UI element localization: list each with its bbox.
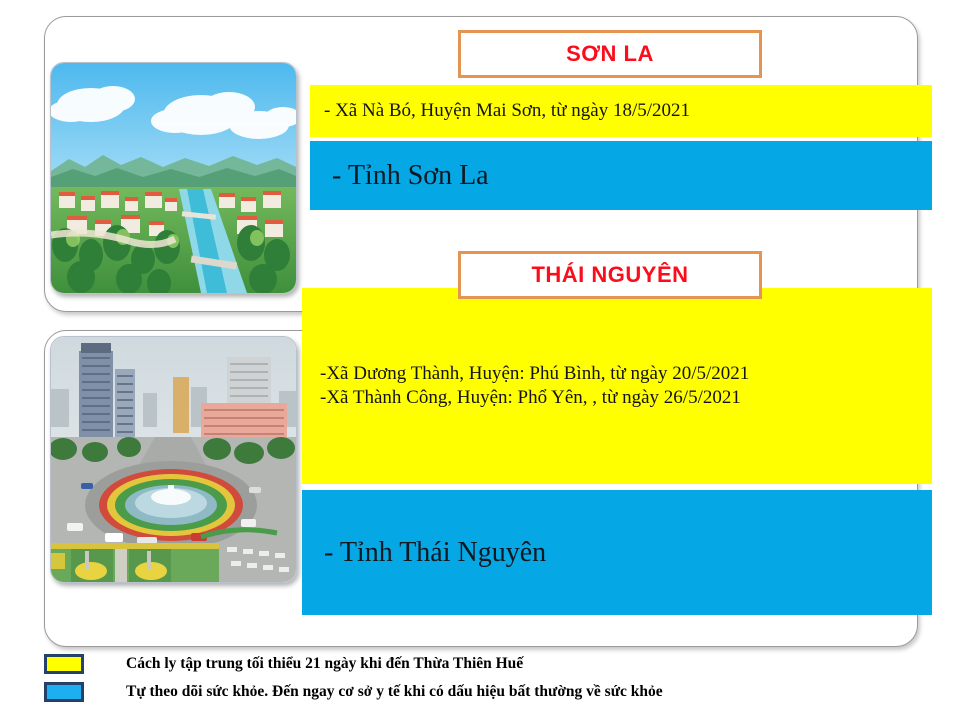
legend-swatch-blue	[44, 682, 84, 702]
legend-item-blue: Tự theo dõi sức khỏe. Đến ngay cơ sở y t…	[44, 682, 663, 702]
thai-nguyen-roundabout-illustration	[51, 337, 296, 582]
province-title-thai-nguyen: THÁI NGUYÊN	[458, 251, 762, 299]
quarantine-location-line: -Xã Thành Công, Huyện: Phổ Yên, , từ ngà…	[312, 386, 932, 410]
info-bar-blue-thai-nguyen: - Tỉnh Thái Nguyên	[302, 490, 932, 615]
info-bar-blue-son-la: - Tỉnh Sơn La	[310, 141, 932, 210]
info-bar-yellow-son-la: - Xã Nà Bó, Huyện Mai Sơn, từ ngày 18/5/…	[310, 85, 932, 137]
legend-label-blue: Tự theo dõi sức khỏe. Đến ngay cơ sở y t…	[126, 683, 663, 701]
quarantine-location-line: - Xã Nà Bó, Huyện Mai Sơn, từ ngày 18/5/…	[324, 99, 932, 123]
legend-swatch-yellow	[44, 654, 84, 674]
legend-item-yellow: Cách ly tập trung tối thiểu 21 ngày khi …	[44, 654, 523, 674]
legend-label-yellow: Cách ly tập trung tối thiểu 21 ngày khi …	[126, 655, 523, 673]
info-bar-yellow-thai-nguyen: -Xã Dương Thành, Huyện: Phú Bình, từ ngà…	[302, 288, 932, 484]
province-title-son-la: SƠN LA	[458, 30, 762, 78]
province-name-line: - Tỉnh Sơn La	[324, 160, 932, 192]
province-name-line: - Tỉnh Thái Nguyên	[312, 537, 932, 569]
quarantine-location-line: -Xã Dương Thành, Huyện: Phú Bình, từ ngà…	[312, 362, 932, 386]
legend: Cách ly tập trung tối thiểu 21 ngày khi …	[44, 652, 924, 708]
photo-son-la-city	[50, 62, 297, 294]
photo-thai-nguyen-roundabout	[50, 336, 297, 583]
son-la-aerial-illustration	[51, 63, 296, 293]
